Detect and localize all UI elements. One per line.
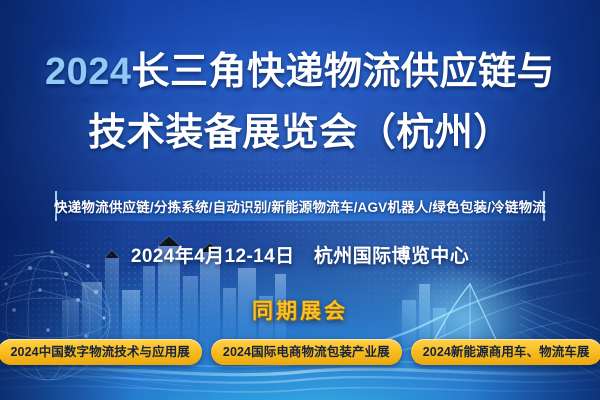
expo-banner: 2024长三角快递物流供应链与 技术装备展览会（杭州） 快递物流供应链/分拣系统…	[0, 0, 600, 400]
title-year: 2024	[45, 51, 132, 93]
section-heading-concurrent: 同期展会	[0, 295, 600, 325]
title-main-text: 长三角快递物流供应链与	[132, 51, 556, 93]
banner-content: 2024长三角快递物流供应链与 技术装备展览会（杭州） 快递物流供应链/分拣系统…	[0, 0, 600, 400]
concurrent-exhibition-list: 2024中国数字物流技术与应用展 2024国际电商物流包装产业展 2024新能源…	[0, 339, 600, 365]
keywords-bar: 快递物流供应链/分拣系统/自动识别/新能源物流车/AGV机器人/绿色包装/冷链物…	[55, 191, 545, 221]
exhibition-pill-3[interactable]: 2024新能源商用车、物流车展	[411, 339, 600, 365]
page-title-line-2: 技术装备展览会（杭州）	[0, 114, 600, 152]
exhibition-pill-1[interactable]: 2024中国数字物流技术与应用展	[0, 339, 202, 365]
date-venue-line: 2024年4月12-14日 杭州国际博览中心	[0, 241, 600, 268]
page-title-line-1: 2024长三角快递物流供应链与	[0, 53, 600, 91]
exhibition-pill-2[interactable]: 2024国际电商物流包装产业展	[211, 339, 402, 365]
